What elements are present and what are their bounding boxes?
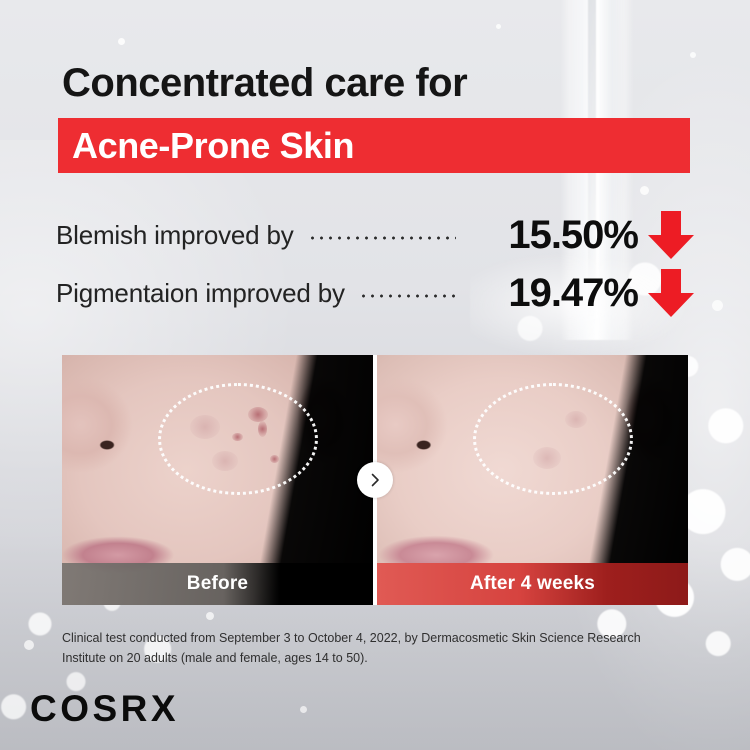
after-panel[interactable]: After 4 weeks	[377, 355, 688, 605]
before-caption: Before	[62, 563, 373, 605]
arrow-down-icon	[646, 267, 696, 319]
droplet	[206, 612, 214, 620]
stat-row: Blemish improved by 15.50%	[56, 206, 696, 264]
advertisement-canvas: Concentrated care for Acne-Prone Skin Bl…	[0, 0, 750, 750]
statistics-list: Blemish improved by 15.50% Pigmentaion i…	[56, 206, 696, 322]
stat-value: 15.50%	[466, 213, 638, 258]
arrow-down-icon	[646, 209, 696, 261]
headline-secondary: Acne-Prone Skin	[72, 125, 354, 167]
stat-label: Blemish improved by	[56, 220, 294, 251]
droplet	[640, 186, 649, 195]
stat-value: 19.47%	[466, 271, 638, 316]
focus-area-marker	[473, 383, 633, 495]
after-caption: After 4 weeks	[377, 563, 688, 605]
droplet	[712, 300, 723, 311]
brand-logo: COSRX	[30, 688, 179, 730]
focus-area-marker	[158, 383, 318, 495]
before-panel[interactable]: Before	[62, 355, 373, 605]
before-after-comparison: Before After 4 weeks	[62, 355, 688, 605]
leader-dots	[308, 236, 456, 240]
droplet	[24, 640, 34, 650]
stat-row: Pigmentaion improved by 19.47%	[56, 264, 696, 322]
headline-highlight-bar: Acne-Prone Skin	[58, 118, 690, 173]
stat-label: Pigmentaion improved by	[56, 278, 345, 309]
droplet	[118, 38, 125, 45]
clinical-test-disclaimer: Clinical test conducted from September 3…	[62, 628, 674, 669]
leader-dots	[359, 294, 456, 298]
droplet	[300, 706, 307, 713]
headline-primary: Concentrated care for	[62, 62, 467, 104]
droplet	[496, 24, 501, 29]
droplet	[690, 52, 696, 58]
chevron-right-icon[interactable]	[357, 462, 393, 498]
